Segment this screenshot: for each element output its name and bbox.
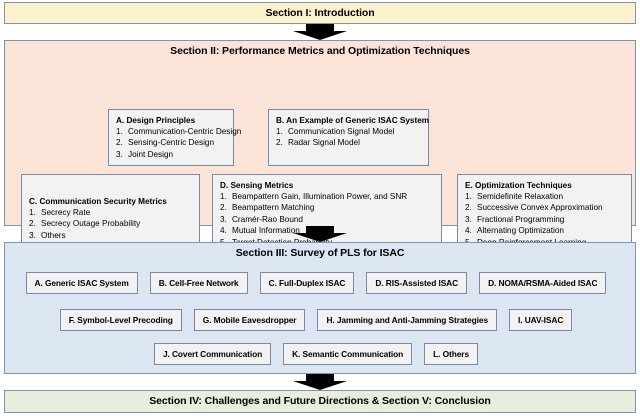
list-item: 1.Semidefinite Relaxation: [465, 191, 625, 202]
list-item-label: Communication-Centric Design: [128, 126, 241, 137]
list-item-number: 2.: [465, 202, 477, 213]
list-item: 2.Successive Convex Approximation: [465, 202, 625, 213]
list-item-number: 1.: [116, 126, 128, 137]
list-item-number: 2.: [276, 137, 288, 148]
list-item: 3.Fractional Programming: [465, 214, 625, 225]
list-item-number: 3.: [220, 214, 232, 225]
list-item: 2.Radar Signal Model: [276, 137, 422, 148]
subbox-heading: C. Communication Security Metrics: [29, 196, 193, 207]
topic-chip-noma-rsma-aided-isac[interactable]: D. NOMA/RSMA-Aided ISAC: [479, 272, 606, 294]
list-item-number: 3.: [465, 214, 477, 225]
arrow-section3-to-section4: [293, 374, 347, 390]
subbox-design-principles: A. Design Principles 1.Communication-Cen…: [108, 109, 234, 166]
subbox-item-list: 1.Communication-Centric Design 2.Sensing…: [116, 126, 227, 160]
list-item-number: 4.: [220, 225, 232, 236]
subbox-generic-isac-example: B. An Example of Generic ISAC System 1.C…: [268, 109, 429, 166]
topic-chip-generic-isac-system[interactable]: A. Generic ISAC System: [26, 272, 138, 294]
subbox-heading: B. An Example of Generic ISAC System: [276, 115, 422, 126]
section-2-title: Section II: Performance Metrics and Opti…: [5, 45, 635, 57]
list-item-label: Secrecy Outage Probability: [41, 218, 140, 229]
flowchart-diagram: Section I: Introduction Section II: Perf…: [0, 0, 640, 416]
topic-chip-cell-free-network[interactable]: B. Cell-Free Network: [150, 272, 248, 294]
section-3-title: Section III: Survey of PLS for ISAC: [5, 247, 635, 259]
subbox-heading: D. Sensing Metrics: [220, 180, 435, 191]
list-item: 2.Sensing-Centric Design: [116, 137, 227, 148]
subbox-heading: E. Optimization Techniques: [465, 180, 625, 191]
list-item-label: Secrecy Rate: [41, 207, 90, 218]
subbox-item-list: 1.Communication Signal Model 2.Radar Sig…: [276, 126, 422, 149]
topic-chip-covert-communication[interactable]: J. Covert Communication: [154, 343, 271, 365]
list-item: 1.Communication Signal Model: [276, 126, 422, 137]
subbox-item-list: 1.Secrecy Rate 2.Secrecy Outage Probabil…: [29, 207, 193, 241]
list-item: 3.Cramér-Rao Bound: [220, 214, 435, 225]
arrow-section1-to-section2: [293, 24, 347, 40]
arrow-section2-to-section3: [293, 226, 347, 242]
topic-chip-semantic-communication[interactable]: K. Semantic Communication: [283, 343, 412, 365]
list-item-label: Joint Design: [128, 149, 173, 160]
list-item: 2.Secrecy Outage Probability: [29, 218, 193, 229]
list-item-number: 3.: [29, 230, 41, 241]
list-item-number: 2.: [29, 218, 41, 229]
topic-chip-uav-isac[interactable]: I. UAV-ISAC: [509, 309, 572, 331]
topic-chip-ris-assisted-isac[interactable]: D. RIS-Assisted ISAC: [366, 272, 467, 294]
topic-chip-others[interactable]: L. Others: [424, 343, 478, 365]
section-1-title: Section I: Introduction: [5, 3, 635, 23]
section-4-title: Section IV: Challenges and Future Direct…: [5, 391, 635, 412]
list-item-number: 3.: [116, 149, 128, 160]
list-item-label: Semidefinite Relaxation: [477, 191, 563, 202]
list-item-number: 2.: [116, 137, 128, 148]
topic-chip-full-duplex-isac[interactable]: C. Full-Duplex ISAC: [260, 272, 355, 294]
section-4-challenges-conclusion: Section IV: Challenges and Future Direct…: [4, 390, 636, 413]
list-item-label: Radar Signal Model: [288, 137, 360, 148]
list-item-label: Beampattern Matching: [232, 202, 314, 213]
list-item-number: 2.: [220, 202, 232, 213]
list-item: 1.Secrecy Rate: [29, 207, 193, 218]
list-item-label: Cramér-Rao Bound: [232, 214, 303, 225]
subbox-heading: A. Design Principles: [116, 115, 227, 126]
topic-chip-row-1: A. Generic ISAC System B. Cell-Free Netw…: [0, 272, 632, 294]
topic-chip-row-3: J. Covert Communication K. Semantic Comm…: [0, 343, 632, 365]
list-item: 4.Alternating Optimization: [465, 225, 625, 236]
list-item: 2.Beampattern Matching: [220, 202, 435, 213]
list-item-label: Sensing-Centric Design: [128, 137, 214, 148]
section-2-performance-metrics: Section II: Performance Metrics and Opti…: [4, 40, 636, 226]
list-item-number: 4.: [465, 225, 477, 236]
list-item: 3.Others: [29, 230, 193, 241]
list-item-label: Successive Convex Approximation: [477, 202, 603, 213]
list-item-number: 1.: [220, 191, 232, 202]
list-item-label: Communication Signal Model: [288, 126, 395, 137]
list-item-number: 1.: [29, 207, 41, 218]
list-item-label: Fractional Programming: [477, 214, 564, 225]
list-item: 3.Joint Design: [116, 149, 227, 160]
topic-chip-symbol-level-precoding[interactable]: F. Symbol-Level Precoding: [60, 309, 182, 331]
list-item: 1.Communication-Centric Design: [116, 126, 227, 137]
list-item-number: 1.: [276, 126, 288, 137]
section-1-introduction: Section I: Introduction: [4, 2, 636, 24]
topic-chip-row-2: F. Symbol-Level Precoding G. Mobile Eave…: [0, 309, 632, 331]
list-item: 1.Beampattern Gain, Illumination Power, …: [220, 191, 435, 202]
topic-chip-jamming-anti-jamming[interactable]: H. Jamming and Anti-Jamming Strategies: [317, 309, 497, 331]
topic-chip-mobile-eavesdropper[interactable]: G. Mobile Eavesdropper: [194, 309, 306, 331]
list-item-label: Beampattern Gain, Illumination Power, an…: [232, 191, 407, 202]
list-item-number: 1.: [465, 191, 477, 202]
list-item-label: Mutual Information: [232, 225, 300, 236]
list-item-label: Others: [41, 230, 66, 241]
list-item-label: Alternating Optimization: [477, 225, 564, 236]
